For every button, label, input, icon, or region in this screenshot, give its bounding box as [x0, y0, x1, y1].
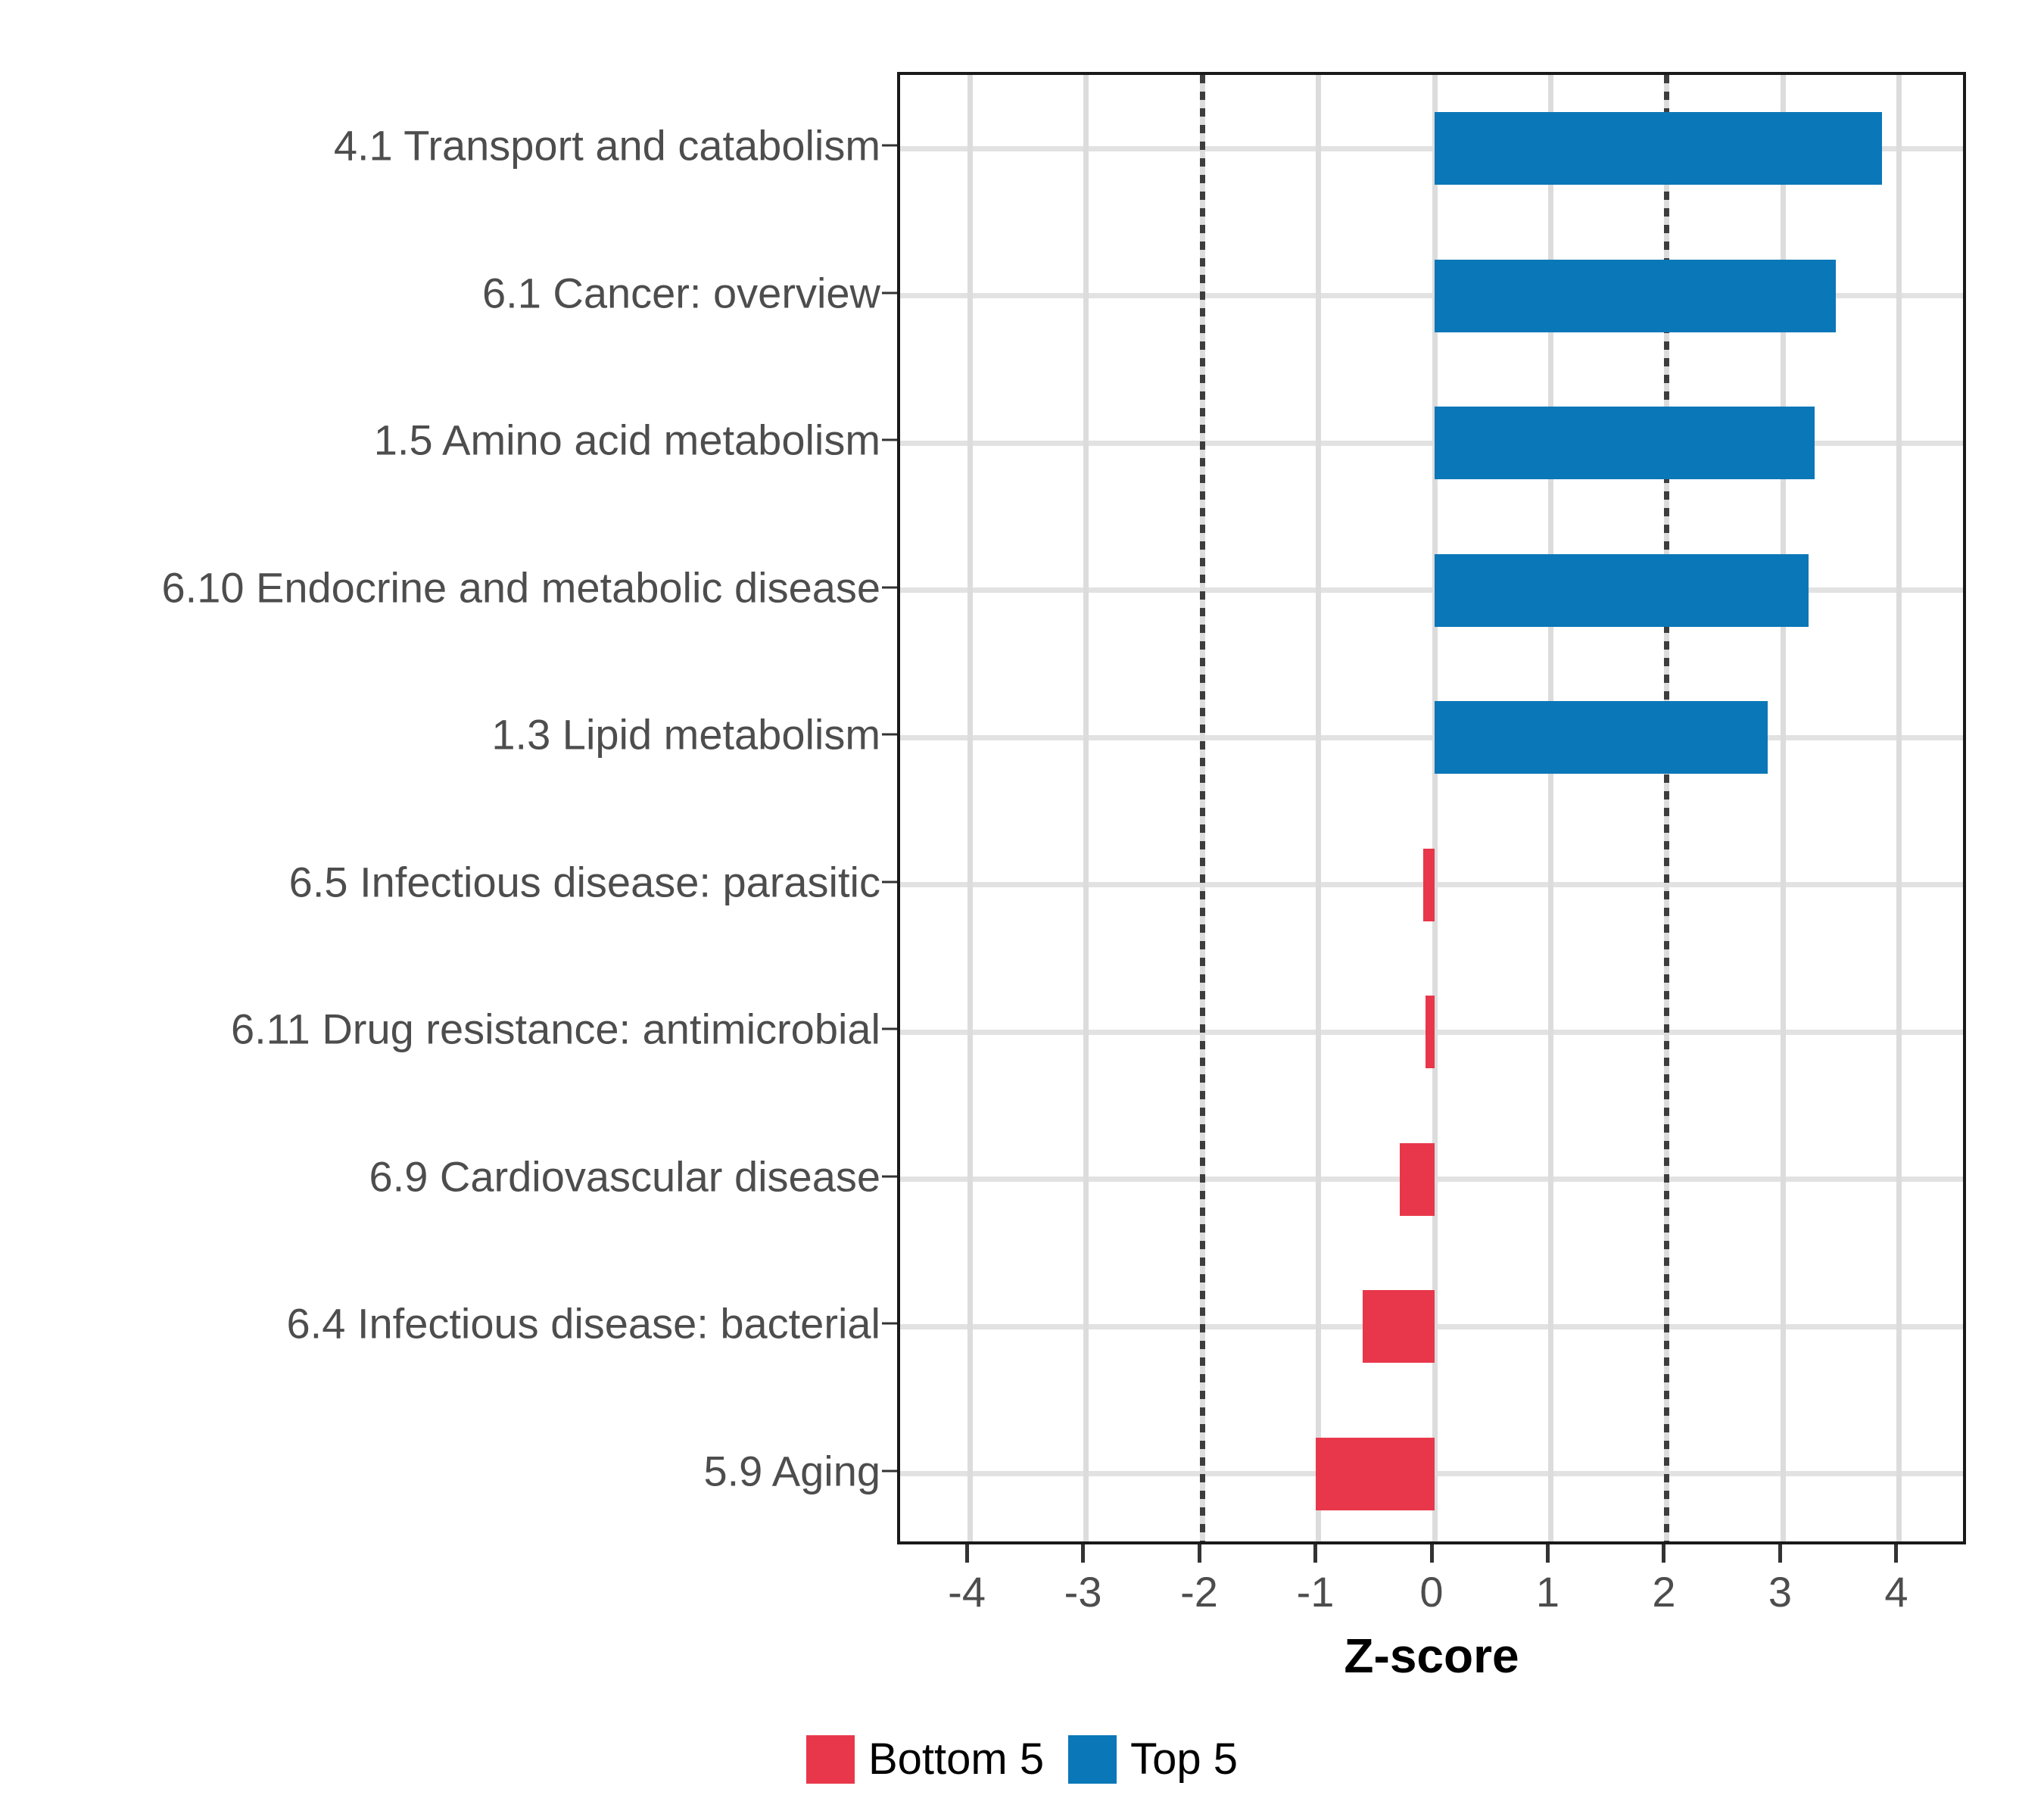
y-axis-labels: 4.1 Transport and catabolism6.1 Cancer: …: [0, 72, 897, 1544]
x-axis-tick-label: 2: [1652, 1567, 1675, 1616]
x-axis-tick-mark: [965, 1544, 969, 1563]
bar[interactable]: [1400, 1143, 1435, 1216]
y-axis-tick-label: 6.4 Infectious disease: bacterial: [287, 1299, 880, 1348]
vertical-gridline: [1083, 75, 1089, 1541]
y-axis-tick-mark: [882, 1175, 897, 1177]
x-axis-title: Z-score: [897, 1628, 1966, 1684]
y-axis-tick-mark: [882, 1323, 897, 1325]
legend-label: Top 5: [1130, 1734, 1238, 1784]
x-axis-tick-mark: [1894, 1544, 1898, 1563]
x-axis-tick-label: -1: [1297, 1567, 1335, 1616]
reference-line: [1200, 75, 1205, 1541]
chart-legend: Bottom 5Top 5: [0, 1734, 2044, 1784]
y-axis-tick-mark: [882, 1469, 897, 1472]
legend-label: Bottom 5: [868, 1734, 1044, 1784]
x-axis-tick-label: 0: [1419, 1567, 1443, 1616]
y-axis-tick-label: 4.1 Transport and catabolism: [334, 121, 880, 170]
x-axis-tick-mark: [1430, 1544, 1434, 1563]
vertical-gridline: [1896, 75, 1902, 1541]
y-axis-tick-label: 5.9 Aging: [703, 1446, 880, 1495]
y-axis-tick-label: 1.5 Amino acid metabolism: [374, 416, 880, 465]
x-axis-tick-label: -3: [1064, 1567, 1102, 1616]
y-axis-tick-mark: [882, 586, 897, 588]
y-axis-tick-mark: [882, 145, 897, 147]
bar[interactable]: [1423, 849, 1435, 921]
y-axis-tick-label: 1.3 Lipid metabolism: [491, 710, 880, 759]
legend-color-swatch: [1068, 1735, 1117, 1784]
x-axis-tick-mark: [1198, 1544, 1201, 1563]
x-axis-tick-mark: [1778, 1544, 1782, 1563]
bar[interactable]: [1435, 554, 1809, 627]
x-axis-tick-label: 3: [1768, 1567, 1792, 1616]
y-axis-tick-label: 6.1 Cancer: overview: [482, 268, 880, 317]
legend-item[interactable]: Top 5: [1068, 1734, 1238, 1784]
x-axis-tick-label: -4: [948, 1567, 986, 1616]
plot-panel: [897, 72, 1966, 1544]
y-axis-tick-mark: [882, 880, 897, 883]
x-axis: -4-3-2-101234: [897, 1544, 1966, 1590]
zscore-bar-chart: 4.1 Transport and catabolism6.1 Cancer: …: [0, 0, 2044, 1817]
x-axis-tick-mark: [1081, 1544, 1085, 1563]
x-axis-tick-label: 4: [1884, 1567, 1908, 1616]
vertical-gridline: [967, 75, 973, 1541]
y-axis-tick-mark: [882, 439, 897, 441]
bar[interactable]: [1435, 260, 1836, 332]
y-axis-tick-label: 6.9 Cardiovascular disease: [369, 1152, 880, 1201]
bar[interactable]: [1316, 1438, 1435, 1510]
x-axis-tick-mark: [1546, 1544, 1550, 1563]
bar[interactable]: [1426, 996, 1435, 1068]
y-axis-tick-label: 6.11 Drug resistance: antimicrobial: [231, 1005, 880, 1054]
bar[interactable]: [1363, 1290, 1435, 1363]
x-axis-tick-label: -2: [1180, 1567, 1218, 1616]
vertical-gridline: [1316, 75, 1321, 1541]
chart-root: 4.1 Transport and catabolism6.1 Cancer: …: [0, 0, 2044, 1817]
bar[interactable]: [1435, 407, 1815, 479]
legend-item[interactable]: Bottom 5: [806, 1734, 1044, 1784]
y-axis-tick-mark: [882, 1028, 897, 1030]
y-axis-tick-label: 6.10 Endocrine and metabolic disease: [161, 563, 880, 612]
x-axis-tick-mark: [1313, 1544, 1317, 1563]
y-axis-tick-mark: [882, 291, 897, 294]
x-axis-tick-mark: [1662, 1544, 1665, 1563]
bar[interactable]: [1435, 112, 1882, 185]
bar[interactable]: [1435, 701, 1768, 774]
y-axis-tick-label: 6.5 Infectious disease: parasitic: [289, 857, 880, 906]
y-axis-tick-mark: [882, 734, 897, 736]
legend-color-swatch: [806, 1735, 855, 1784]
x-axis-tick-label: 1: [1536, 1567, 1559, 1616]
